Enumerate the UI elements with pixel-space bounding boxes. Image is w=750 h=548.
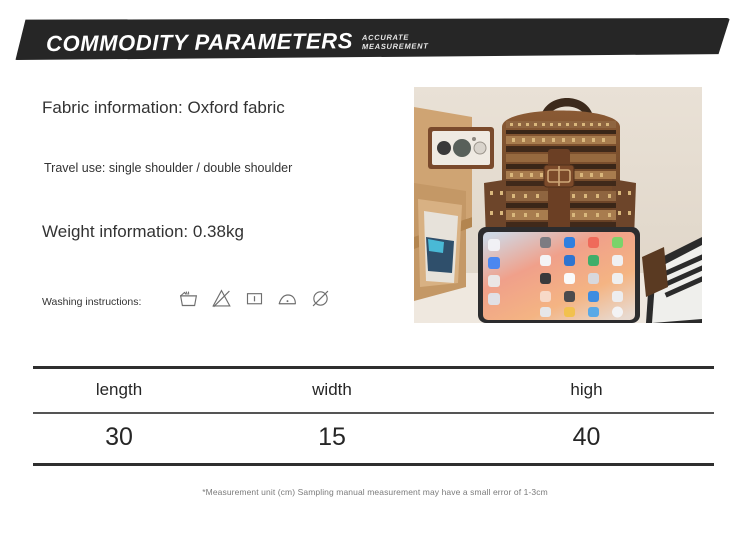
- table-rule-bottom: [33, 463, 714, 466]
- tumble-dry-icon: [244, 288, 265, 309]
- spec-washing-instructions-label: Washing instructions:: [42, 296, 141, 308]
- page-title: COMMODITY PARAMETERS: [46, 28, 353, 57]
- column-header-width: width: [205, 369, 459, 412]
- specifications-list: Fabric information: Oxford fabric Travel…: [0, 82, 400, 332]
- table-header-row: length width high: [33, 369, 714, 412]
- iron-icon: [277, 288, 298, 309]
- measurement-footnote: *Measurement unit (cm) Sampling manual m…: [0, 487, 750, 497]
- spec-weight-information: Weight information: 0.38kg: [42, 222, 244, 242]
- spec-fabric-information: Fabric information: Oxford fabric: [42, 98, 285, 118]
- value-high: 40: [459, 414, 714, 463]
- banner-subtitle: ACCURATE MEASUREMENT: [362, 32, 429, 51]
- header-banner: COMMODITY PARAMETERS ACCURATE MEASUREMEN…: [0, 18, 750, 64]
- banner-text-group: COMMODITY PARAMETERS ACCURATE MEASUREMEN…: [0, 14, 750, 67]
- do-not-bleach-icon: [211, 288, 232, 309]
- table-value-row: 30 15 40: [33, 414, 714, 463]
- banner-subtitle-line-2: MEASUREMENT: [362, 41, 429, 51]
- do-not-dry-clean-icon: [310, 288, 331, 309]
- value-length: 30: [33, 414, 205, 463]
- care-symbols-row: [178, 288, 331, 309]
- product-photo-illustration: [414, 87, 702, 323]
- column-header-high: high: [459, 369, 714, 412]
- column-header-length: length: [33, 369, 205, 412]
- hand-wash-tub-icon: [178, 288, 199, 309]
- value-width: 15: [205, 414, 459, 463]
- spec-travel-use: Travel use: single shoulder / double sho…: [44, 161, 292, 175]
- dimensions-table: length width high 30 15 40: [33, 366, 714, 466]
- product-photo: [414, 87, 702, 323]
